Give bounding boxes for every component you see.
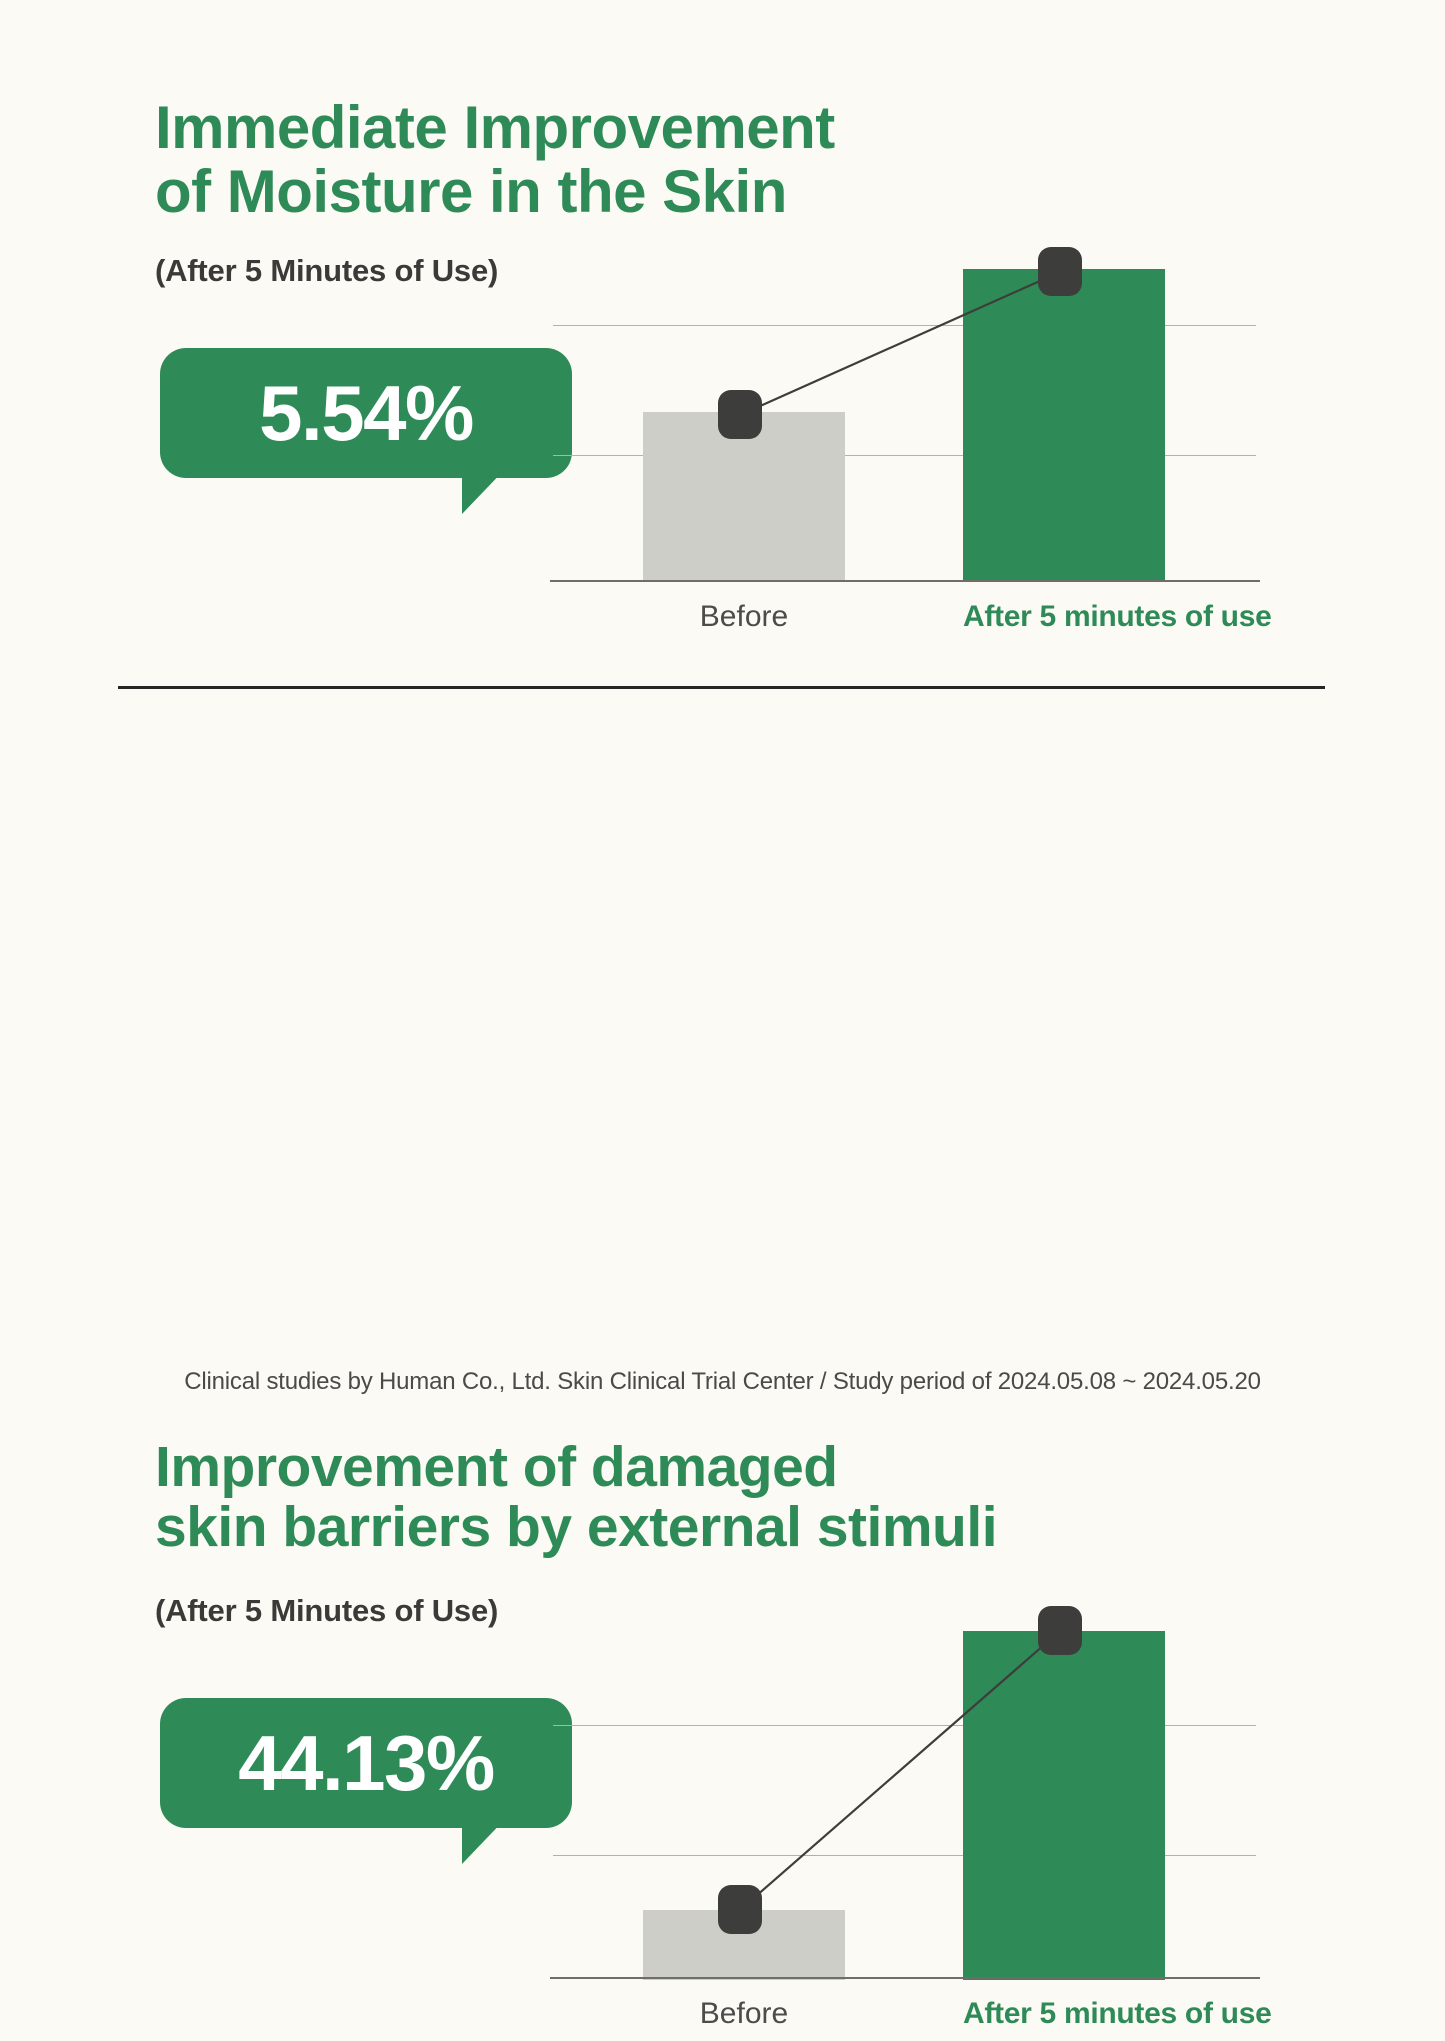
chart-plot-area — [550, 240, 1260, 582]
section-divider — [118, 686, 1325, 689]
callout-bubble-body: 5.54% — [160, 348, 572, 478]
page-title-moisture: Immediate Improvement of Moisture in the… — [155, 96, 835, 223]
data-point-marker-after — [1038, 247, 1082, 296]
data-point-marker-after — [1038, 1606, 1082, 1655]
chart-baseline-axis — [550, 1977, 1260, 1979]
axis-label-after: After 5 minutes of use — [963, 1997, 1165, 2031]
subtitle-barrier: (After 5 Minutes of Use) — [155, 1593, 498, 1629]
chart-barrier: Before After 5 minutes of use — [550, 1600, 1260, 2040]
chart-moisture: Before After 5 minutes of use — [550, 240, 1260, 640]
chart-baseline-axis — [550, 580, 1260, 582]
data-point-marker-before — [718, 1885, 762, 1934]
bar-after — [963, 269, 1165, 582]
callout-value-moisture: 5.54% — [259, 374, 473, 452]
section-moisture-improvement: Immediate Improvement of Moisture in the… — [0, 0, 1445, 672]
infographic-page: Immediate Improvement of Moisture in the… — [0, 0, 1445, 1445]
axis-label-before: Before — [643, 600, 845, 634]
chart-x-axis-labels: Before After 5 minutes of use — [550, 1997, 1260, 2041]
callout-tail-icon — [462, 1816, 508, 1864]
chart-plot-area — [550, 1600, 1260, 1980]
bar-after — [963, 1631, 1165, 1980]
callout-bubble-moisture: 5.54% — [160, 348, 572, 478]
section-barrier-improvement: Improvement of damaged skin barriers by … — [0, 700, 1445, 1360]
callout-bubble-body: 44.13% — [160, 1698, 572, 1828]
data-point-marker-before — [718, 390, 762, 439]
axis-label-after: After 5 minutes of use — [963, 600, 1165, 634]
axis-label-before: Before — [643, 1997, 845, 2031]
footer-study-credit: Clinical studies by Human Co., Ltd. Skin… — [0, 1368, 1445, 1396]
subtitle-moisture: (After 5 Minutes of Use) — [155, 253, 498, 289]
callout-tail-icon — [462, 466, 508, 514]
page-title-barrier: Improvement of damaged skin barriers by … — [155, 1437, 997, 1558]
chart-x-axis-labels: Before After 5 minutes of use — [550, 600, 1260, 644]
callout-value-barrier: 44.13% — [238, 1724, 494, 1802]
callout-bubble-barrier: 44.13% — [160, 1698, 572, 1828]
